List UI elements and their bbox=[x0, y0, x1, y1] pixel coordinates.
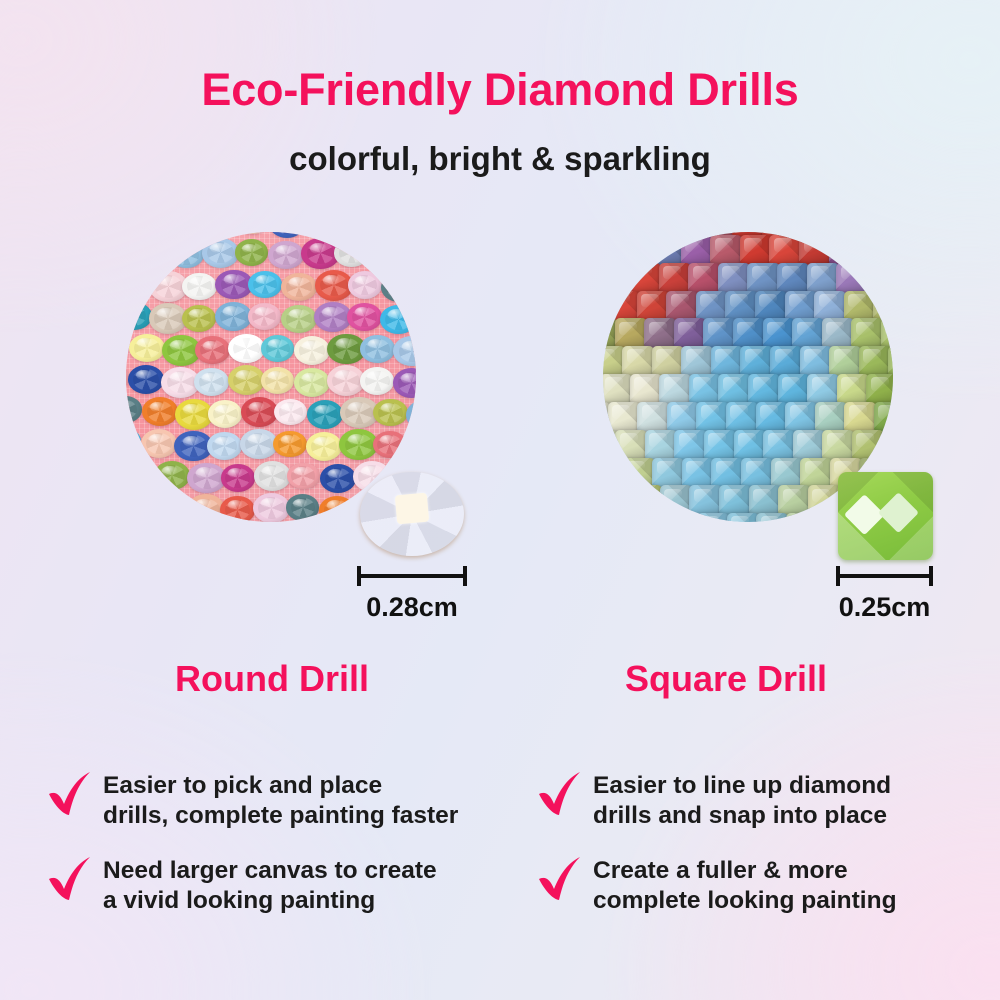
bracket-cap-right bbox=[463, 566, 467, 586]
measure-bracket bbox=[836, 566, 933, 584]
feature-text: Create a fuller & more complete looking … bbox=[593, 853, 897, 916]
round-drill-gem-icon bbox=[360, 472, 464, 556]
feature-item: Need larger canvas to create a vivid loo… bbox=[45, 853, 515, 916]
square-gem-body bbox=[838, 472, 933, 560]
bracket-cap-right bbox=[929, 566, 933, 586]
square-drill-measurement: 0.25cm bbox=[836, 566, 933, 623]
round-gem-highlight bbox=[395, 492, 430, 524]
square-drill-features: Easier to line up diamond drills and sna… bbox=[535, 768, 1000, 938]
square-drill-heading: Square Drill bbox=[625, 658, 827, 700]
measure-bracket bbox=[357, 566, 467, 584]
round-gem-body bbox=[360, 472, 464, 556]
round-drill-heading: Round Drill bbox=[175, 658, 369, 700]
measure-label: 0.25cm bbox=[836, 592, 933, 623]
page-subtitle: colorful, bright & sparkling bbox=[0, 140, 1000, 178]
page-title: Eco-Friendly Diamond Drills bbox=[0, 64, 1000, 116]
check-icon bbox=[535, 855, 585, 907]
measure-label: 0.28cm bbox=[357, 592, 467, 623]
bracket-bar bbox=[357, 574, 467, 578]
infographic-canvas: Eco-Friendly Diamond Drills colorful, br… bbox=[0, 0, 1000, 1000]
feature-item: Create a fuller & more complete looking … bbox=[535, 853, 1000, 916]
feature-item: Easier to line up diamond drills and sna… bbox=[535, 768, 1000, 831]
check-icon bbox=[535, 770, 585, 822]
feature-text: Easier to pick and place drills, complet… bbox=[103, 768, 458, 831]
feature-text: Need larger canvas to create a vivid loo… bbox=[103, 853, 437, 916]
square-drill-gem-icon bbox=[838, 472, 933, 560]
feature-text: Easier to line up diamond drills and sna… bbox=[593, 768, 891, 831]
check-icon bbox=[45, 770, 95, 822]
check-icon bbox=[45, 855, 95, 907]
feature-item: Easier to pick and place drills, complet… bbox=[45, 768, 515, 831]
round-drill-features: Easier to pick and place drills, complet… bbox=[45, 768, 515, 938]
bracket-bar bbox=[836, 574, 933, 578]
round-drill-measurement: 0.28cm bbox=[357, 566, 467, 623]
